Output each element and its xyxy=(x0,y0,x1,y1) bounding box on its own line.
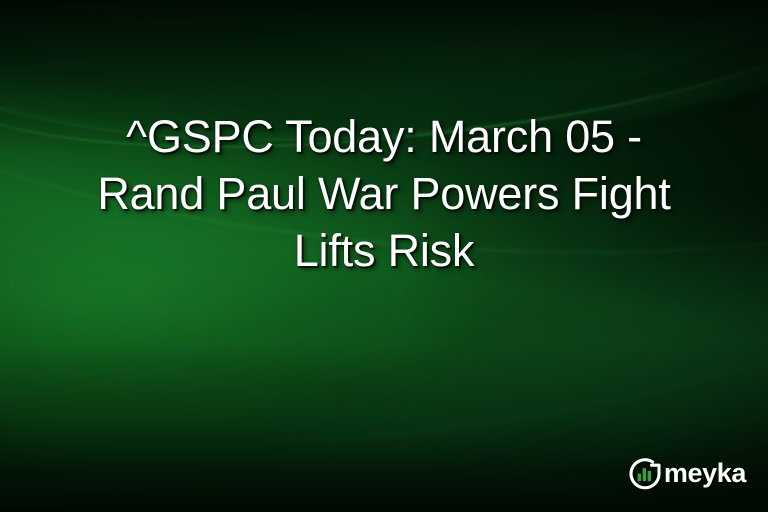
headline-line-2: Rand Paul War Powers Fight xyxy=(26,165,742,222)
meyka-wordmark: meyka xyxy=(664,460,746,487)
meyka-chart-circle-icon xyxy=(628,456,662,490)
headline-line-1: ^GSPC Today: March 05 - xyxy=(26,108,742,165)
headline-block: ^GSPC Today: March 05 - Rand Paul War Po… xyxy=(0,108,768,279)
article-hero-card: ^GSPC Today: March 05 - Rand Paul War Po… xyxy=(0,0,768,512)
headline-line-3: Lifts Risk xyxy=(26,222,742,279)
meyka-logo[interactable]: meyka xyxy=(628,456,746,490)
